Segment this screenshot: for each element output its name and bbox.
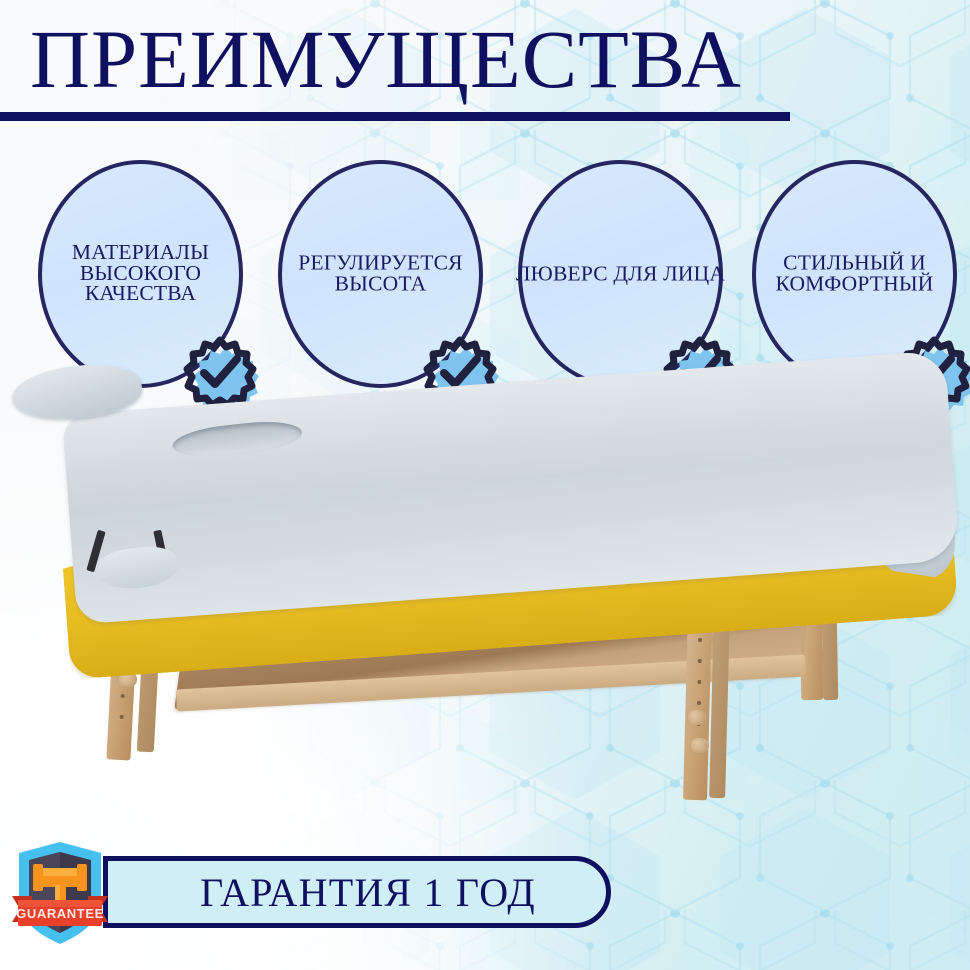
guarantee-label: ГАРАНТИЯ 1 ГОД bbox=[178, 869, 536, 916]
product-image-massage-table bbox=[0, 380, 970, 900]
leg-adjust-knob-right-lower bbox=[691, 738, 709, 753]
guarantee-badge-text: GUARANTEE bbox=[16, 906, 104, 921]
guarantee-pill[interactable]: ГАРАНТИЯ 1 ГОД bbox=[103, 856, 611, 928]
leg-adjust-knob-right-upper bbox=[688, 710, 706, 725]
feature-label: МАТЕРИАЛЫ ВЫСОКОГО КАЧЕСТВА bbox=[32, 242, 249, 304]
feature-item-face-grommet[interactable]: ЛЮВЕРС ДЛЯ ЛИЦА bbox=[518, 160, 723, 388]
feature-item-materials[interactable]: МАТЕРИАЛЫ ВЫСОКОГО КАЧЕСТВА bbox=[38, 160, 243, 388]
feature-item-height-adjust[interactable]: РЕГУЛИРУЕТСЯ ВЫСОТА bbox=[278, 160, 483, 388]
page-title: ПРЕИМУЩЕСТВА bbox=[30, 18, 742, 101]
title-underline-rule bbox=[0, 112, 790, 121]
feature-label: РЕГУЛИРУЕТСЯ ВЫСОТА bbox=[272, 253, 489, 294]
feature-item-stylish-comfortable[interactable]: СТИЛЬНЫЙ И КОМФОРТНЫЙ bbox=[752, 160, 957, 388]
feature-label: ЛЮВЕРС ДЛЯ ЛИЦА bbox=[512, 263, 729, 284]
poster-canvas: ПРЕИМУЩЕСТВА МАТЕРИАЛЫ ВЫСОКОГО КАЧЕСТВА… bbox=[0, 0, 970, 970]
feature-label: СТИЛЬНЫЙ И КОМФОРТНЫЙ bbox=[746, 253, 963, 294]
guarantee-bar: ГАРАНТИЯ 1 ГОД bbox=[0, 838, 970, 948]
guarantee-shield-gavel-icon: GUARANTEE bbox=[10, 838, 110, 948]
